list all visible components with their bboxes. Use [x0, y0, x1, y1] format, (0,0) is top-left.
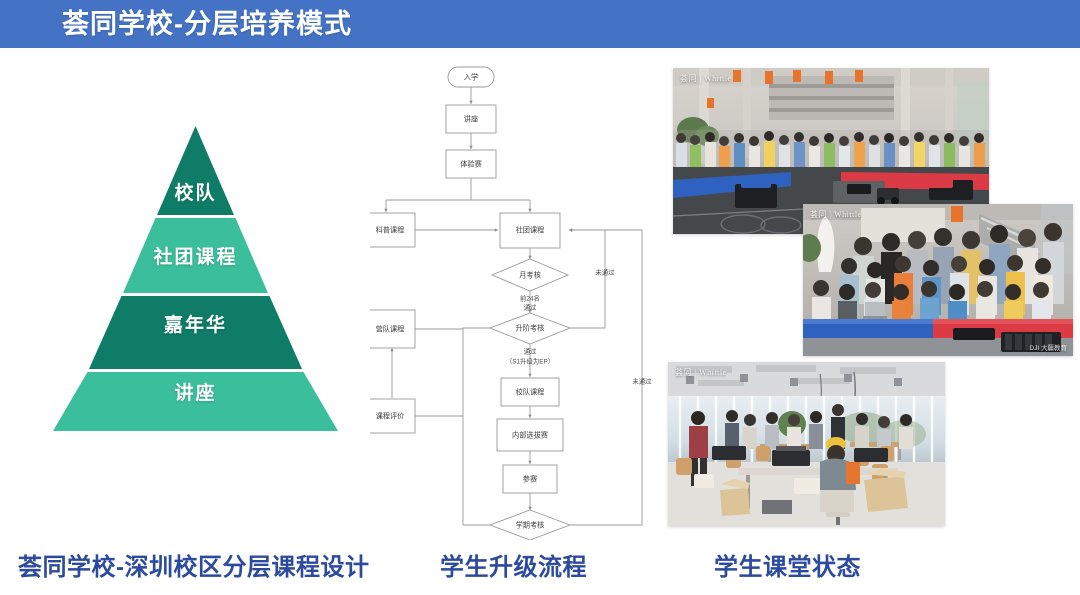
- photo-3-graphic: [668, 362, 945, 526]
- photo-2-watermark: 荟同 | Whittle: [810, 209, 862, 220]
- node-promotion-review-label: 升阶考核: [516, 323, 545, 332]
- edge-label-fail-monthly: 未通过: [595, 268, 615, 277]
- edge-trial-split: [386, 178, 530, 200]
- pyramid-level-1-shape: [123, 218, 268, 293]
- edge-label-top24-line1: 前24名: [520, 294, 540, 303]
- node-team-course-label: 校队课程: [516, 387, 545, 396]
- pyramid-level-0-shape: [157, 126, 234, 215]
- node-camp-course-label: 营队课程: [376, 324, 405, 333]
- node-enroll-label: 入学: [464, 72, 478, 81]
- node-course-eval-label: 课程评价: [376, 411, 405, 420]
- caption-photos: 学生课堂状态: [714, 553, 861, 583]
- caption-flowchart: 学生升级流程: [440, 553, 587, 583]
- edge-label-pass-line1: 通过: [524, 347, 537, 356]
- photo-classroom-workshop: 荟同 | Whittle: [668, 362, 945, 526]
- photo-3-watermark: 荟同 | Whittle: [675, 367, 727, 378]
- photo-students-watching-match: 荟同 | Whittle DJI 大疆教育: [803, 204, 1073, 356]
- pyramid-svg: [8, 120, 383, 435]
- edge-label-top24-line2: 通过: [524, 303, 537, 312]
- photo-2-graphic: [803, 204, 1073, 356]
- node-trial-match-label: 体验赛: [460, 159, 482, 168]
- pyramid-level-2-shape: [89, 296, 302, 369]
- pyramid-chart: 校队 社团课程 嘉年华 讲座: [8, 120, 383, 435]
- edge-label-pass-line2: （S1升级为EP）: [506, 357, 554, 366]
- photo-1-watermark: 荟同 | Whittle: [680, 73, 732, 84]
- pyramid-level-3-shape: [53, 372, 338, 431]
- node-compete-label: 参赛: [523, 474, 537, 483]
- node-term-review-label: 学期考核: [516, 520, 545, 529]
- page-title: 荟同学校-分层培养模式: [62, 8, 352, 40]
- node-lecture-label: 讲座: [464, 114, 478, 123]
- photo-2-corner-logo: DJI 大疆教育: [1029, 342, 1067, 352]
- node-club-course-label: 社团课程: [516, 225, 545, 234]
- caption-pyramid: 荟同学校-深圳校区分层课程设计: [18, 553, 370, 583]
- edge-monthly-fail-loop: [560, 230, 605, 328]
- flowchart-svg: 入学 讲座 体验赛 科普课程 社团课程 月考核 前24名 通过 营队课程 升阶考…: [370, 60, 660, 540]
- node-monthly-review-label: 月考核: [519, 270, 541, 279]
- node-science-course-label: 科普课程: [376, 225, 405, 234]
- edge-label-fail-term: 未通过: [632, 377, 652, 386]
- flowchart: 入学 讲座 体验赛 科普课程 社团课程 月考核 前24名 通过 营队课程 升阶考…: [370, 60, 660, 540]
- edge-camp-to-promotion: [415, 328, 499, 329]
- node-internal-trial-label: 内部选拔赛: [512, 430, 548, 439]
